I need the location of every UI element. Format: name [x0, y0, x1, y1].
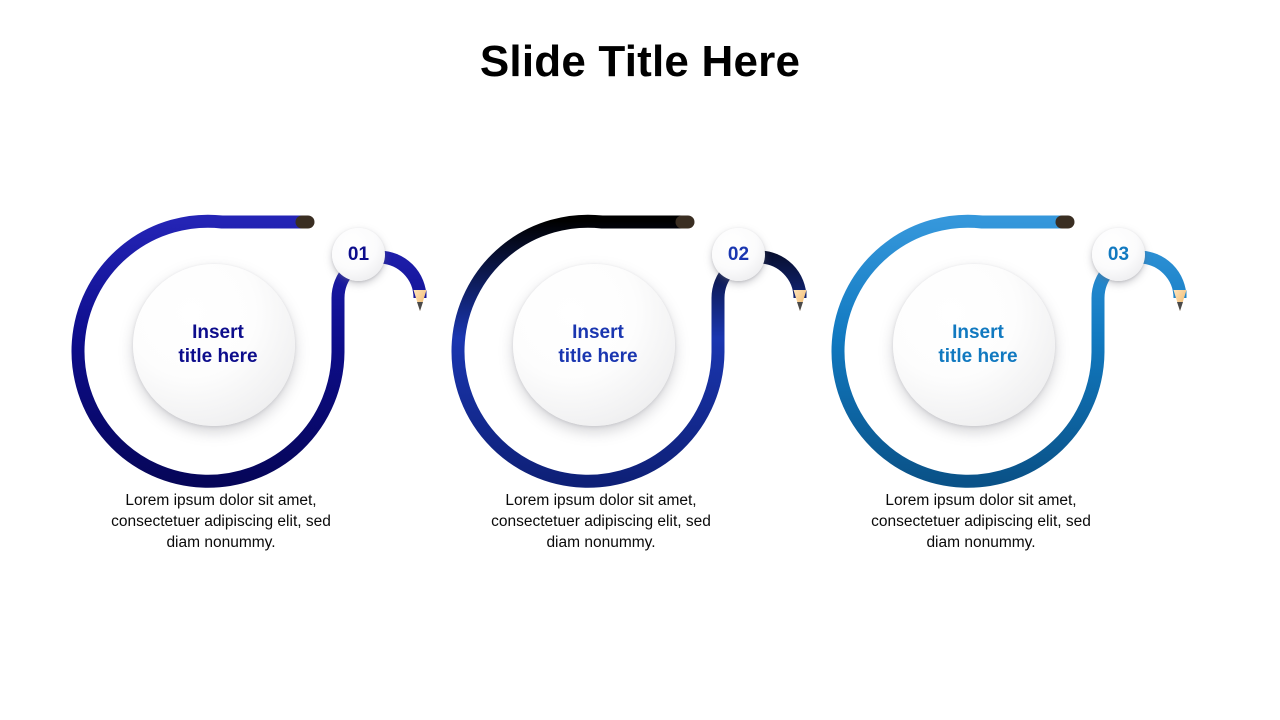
step-badge-number-1: 01 — [348, 245, 369, 264]
center-disc-title-line1: Insert — [192, 322, 244, 343]
center-disc-title-line2: title here — [178, 346, 257, 367]
center-disc-title-line1: Insert — [952, 322, 1004, 343]
center-disc-label-2: Insert title here — [550, 321, 637, 369]
pencil-graphite-tip-2 — [797, 302, 803, 311]
center-disc-label-1: Insert title here — [170, 321, 257, 369]
center-disc-title-line2: title here — [938, 346, 1017, 367]
step-badge-1[interactable]: 01 — [332, 228, 385, 281]
body-text-1: Lorem ipsum dolor sit amet, consectetuer… — [106, 490, 336, 553]
body-text-3: Lorem ipsum dolor sit amet, consectetuer… — [866, 490, 1096, 553]
center-disc-title-line1: Insert — [572, 322, 624, 343]
center-disc-2[interactable]: Insert title here — [513, 264, 675, 426]
page-title: Slide Title Here — [0, 38, 1280, 86]
center-disc-1[interactable]: Insert title here — [133, 264, 295, 426]
step-badge-2[interactable]: 02 — [712, 228, 765, 281]
info-group-2[interactable]: Insert title here 02 Lorem ipsum dolor s… — [450, 180, 830, 600]
body-text-2: Lorem ipsum dolor sit amet, consectetuer… — [486, 490, 716, 553]
pencil-graphite-tip-1 — [417, 302, 423, 311]
pencil-graphite-tip-3 — [1177, 302, 1183, 311]
center-disc-title-line2: title here — [558, 346, 637, 367]
step-badge-3[interactable]: 03 — [1092, 228, 1145, 281]
center-disc-label-3: Insert title here — [930, 321, 1017, 369]
center-disc-3[interactable]: Insert title here — [893, 264, 1055, 426]
step-badge-number-2: 02 — [728, 245, 749, 264]
step-badge-number-3: 03 — [1108, 245, 1129, 264]
info-group-3[interactable]: Insert title here 03 Lorem ipsum dolor s… — [830, 180, 1210, 600]
info-group-1[interactable]: Insert title here 01 Lorem ipsum dolor s… — [70, 180, 450, 600]
slide-canvas: Slide Title Here In — [0, 0, 1280, 720]
